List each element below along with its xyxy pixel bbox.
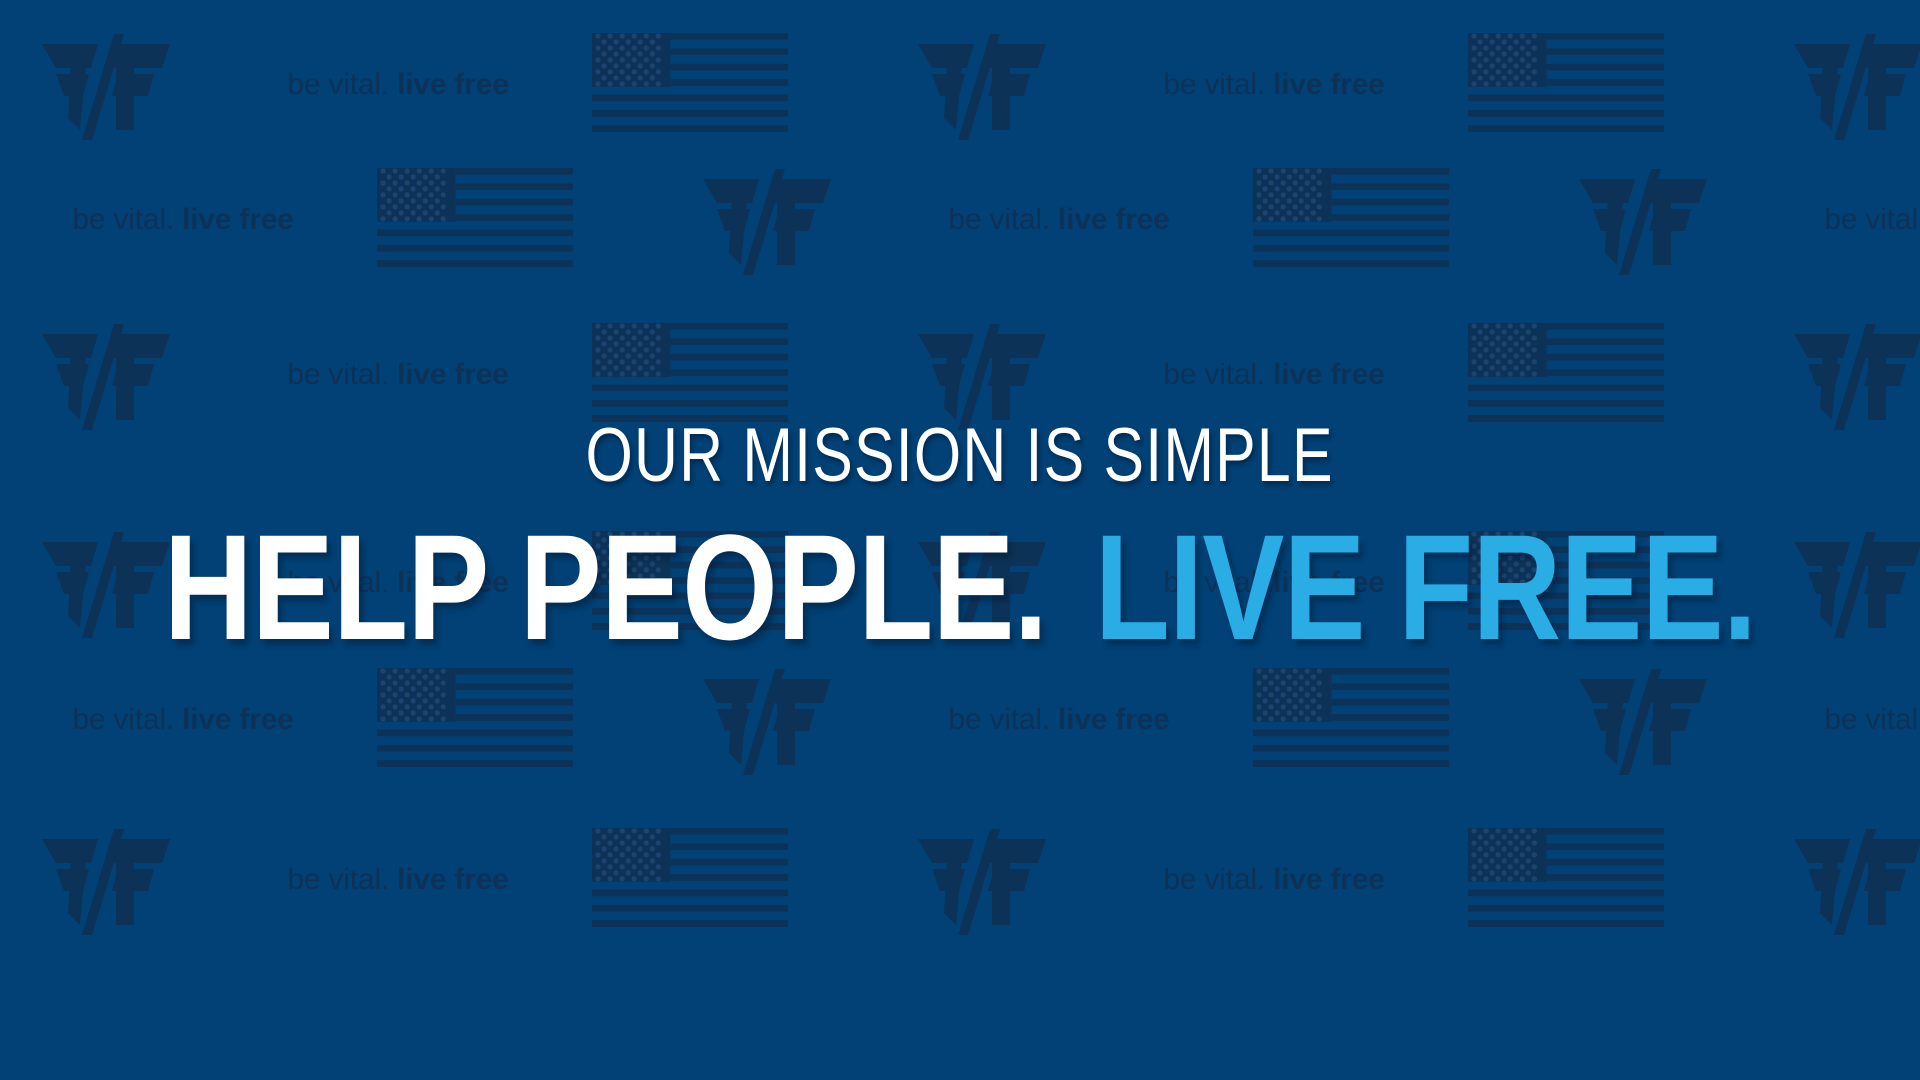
hero-copy-block: OUR MISSION IS SIMPLE HELP PEOPLE. LIVE … <box>0 0 1920 1080</box>
hero-eyebrow: OUR MISSION IS SIMPLE <box>586 418 1334 494</box>
hero-headline-primary: HELP PEOPLE. <box>164 512 1047 662</box>
hero-headline-accent: LIVE FREE. <box>1095 512 1757 662</box>
hero-headline: HELP PEOPLE. LIVE FREE. <box>164 512 1756 662</box>
mission-hero-banner: be vital. live freebe vital. live freebe… <box>0 0 1920 1080</box>
